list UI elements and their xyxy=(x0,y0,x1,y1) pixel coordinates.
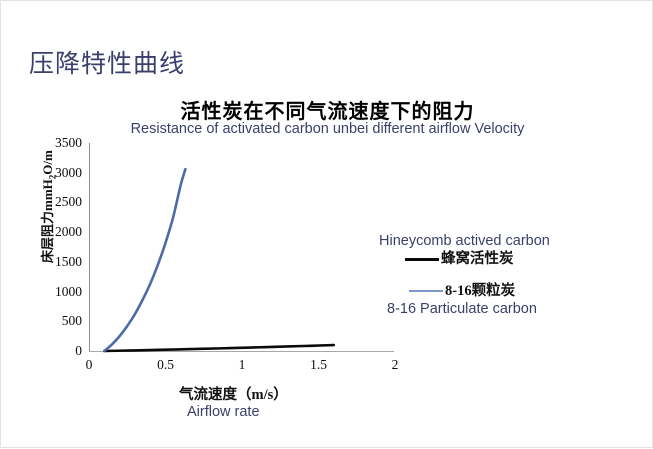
x-tick-label: 0 xyxy=(86,357,93,373)
x-axis-label-en: Airflow rate xyxy=(187,404,260,420)
x-tick-label: 2 xyxy=(392,357,399,373)
legend-line-swatch-honeycomb xyxy=(405,258,439,261)
chart-container: 活性炭在不同气流速度下的阻力 Resistance of activated c… xyxy=(1,1,653,449)
y-tick-label: 3500 xyxy=(55,135,82,151)
plot-area: 0 500 1000 1500 2000 2500 3000 3500 0 0.… xyxy=(89,143,394,351)
legend-label-honeycomb: 蜂窝活性炭 xyxy=(441,250,514,268)
legend-caption-particulate: 8-16 Particulate carbon xyxy=(379,300,579,318)
legend-label-particulate: 8-16颗粒炭 xyxy=(445,282,515,300)
x-tick-label: 0.5 xyxy=(157,357,174,373)
chart-subtitle: Resistance of activated carbon unbei dif… xyxy=(1,121,653,137)
legend-item-particulate[interactable]: 8-16颗粒炭 xyxy=(379,282,579,300)
y-tick-label: 2500 xyxy=(55,194,82,210)
x-tick-label: 1.5 xyxy=(310,357,327,373)
y-tick-label: 3000 xyxy=(55,165,82,181)
legend-line-swatch-particulate xyxy=(409,290,443,292)
x-axis-label: 气流速度（m/s） xyxy=(179,383,288,404)
legend-caption-honeycomb: Hineycomb actived carbon xyxy=(379,232,579,250)
y-tick-label: 1500 xyxy=(55,254,82,270)
chart-title: 活性炭在不同气流速度下的阻力 xyxy=(1,95,653,124)
series-line-honeycomb xyxy=(104,345,333,351)
legend-item-honeycomb[interactable]: 蜂窝活性炭 xyxy=(379,250,579,268)
x-tick-label: 1 xyxy=(239,357,246,373)
y-tick-label: 1000 xyxy=(55,284,82,300)
chart-series-svg xyxy=(89,143,395,352)
chart-legend: Hineycomb actived carbon 蜂窝活性炭 8-16颗粒炭 8… xyxy=(379,232,579,318)
y-tick-label: 0 xyxy=(75,343,82,359)
y-tick-label: 500 xyxy=(62,313,82,329)
y-tick-label: 2000 xyxy=(55,224,82,240)
series-line-particulate xyxy=(104,169,185,351)
slide-canvas: 压降特性曲线 活性炭在不同气流速度下的阻力 Resistance of acti… xyxy=(0,0,653,448)
